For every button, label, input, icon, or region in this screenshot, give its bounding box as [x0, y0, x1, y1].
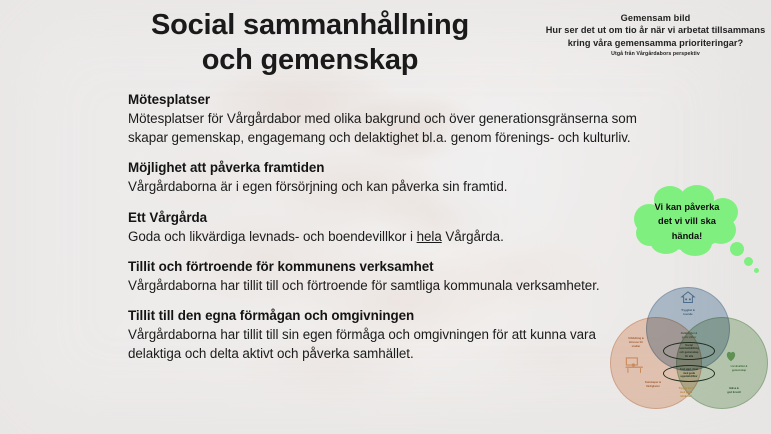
- section-heading: Ett Vårgårda: [128, 208, 648, 227]
- section-tillit-egna-formagan: Tillit till den egna förmågan och omgivn…: [128, 306, 648, 363]
- header-note-title: Gemensam bild: [540, 12, 771, 24]
- slide-title-line-1: Social sammanhållning: [70, 8, 550, 43]
- header-note-question: Hur ser det ut om tio år när vi arbetat …: [540, 24, 771, 50]
- thought-bubble-cloud: Vi kan påverka det vi vill ska hända!: [632, 186, 742, 258]
- venn-label-health: Hälsa & god livsstil: [710, 387, 758, 395]
- venn-label-children: Trygga barn med goda relationer: [666, 387, 706, 399]
- section-body: Vårgårdaborna har tillit till sin egen f…: [128, 325, 648, 363]
- section-body-pre: Goda och likvärdiga levnads- och boendev…: [128, 229, 417, 244]
- section-body: Mötesplatser för Vårgårdabor med olika b…: [128, 109, 648, 147]
- thought-bubble-dot-small: [754, 268, 759, 273]
- venn-label-education: Utbildning & intresse för studier: [614, 337, 658, 349]
- section-body: Goda och likvärdiga levnads- och boendev…: [128, 227, 648, 246]
- presentation-slide: Social sammanhållning och gemenskap Geme…: [0, 0, 771, 434]
- header-note-subtext: Utgå från Vårgårdabors perspektiv: [540, 51, 771, 59]
- venn-focus-social-cohesion: Social sammanhållning och gemenskap för …: [663, 342, 715, 360]
- section-body-pre: Vårgårdaborna har tillit till sin egen f…: [128, 327, 596, 361]
- section-tillit-kommunens-verksamhet: Tillit och förtroende för kommunens verk…: [128, 257, 648, 295]
- section-motesplatser: Mötesplatser Mötesplatser för Vårgårdabo…: [128, 90, 648, 147]
- section-heading: Mötesplatser: [128, 90, 648, 109]
- content-sections: Mötesplatser Mötesplatser för Vårgårdabo…: [128, 90, 648, 374]
- section-body: Vårgårdaborna är i egen försörjning och …: [128, 177, 648, 196]
- section-body-post: Vårgårda.: [442, 229, 504, 244]
- slide-title-line-2: och gemenskap: [70, 43, 550, 78]
- section-body-pre: Vårgårdaborna är i egen försörjning och …: [128, 179, 507, 194]
- section-heading: Tillit och förtroende för kommunens verk…: [128, 257, 648, 276]
- house-icon: [680, 290, 696, 305]
- section-heading: Tillit till den egna förmågan och omgivn…: [128, 306, 648, 325]
- thought-bubble-text: Vi kan påverka det vi vill ska hända!: [640, 200, 734, 243]
- heart-icon: [724, 349, 738, 363]
- section-heading: Möjlighet att påverka framtiden: [128, 158, 648, 177]
- thought-bubble-dot-medium: [744, 257, 753, 266]
- section-body-pre: Mötesplatser för Vårgårdabor med olika b…: [128, 111, 637, 145]
- venn-label-community: Livskvalitet & gemenskap: [716, 365, 762, 373]
- venn-label-participation: Delaktighet & goda villkor: [666, 332, 712, 340]
- venn-focus-good-start: God start i livet med goda uppväxtvillko…: [663, 365, 715, 382]
- desk-study-icon: [624, 355, 646, 375]
- header-note: Gemensam bild Hur ser det ut om tio år n…: [540, 12, 771, 59]
- section-mojlighet-paverka-framtiden: Möjlighet att påverka framtiden Vårgårda…: [128, 158, 648, 196]
- venn-diagram: Trygghet & boende Utbildning & intresse …: [604, 287, 770, 412]
- thought-bubble-dot-large: [730, 242, 744, 256]
- section-body-underlined: hela: [417, 229, 442, 244]
- section-ett-vargarda: Ett Vårgårda Goda och likvärdiga levnads…: [128, 208, 648, 246]
- section-body-pre: Vårgårdaborna har tillit till och förtro…: [128, 278, 600, 293]
- section-body: Vårgårdaborna har tillit till och förtro…: [128, 276, 648, 295]
- slide-title: Social sammanhållning och gemenskap: [70, 8, 550, 79]
- venn-label-housing: Trygghet & boende: [666, 309, 710, 317]
